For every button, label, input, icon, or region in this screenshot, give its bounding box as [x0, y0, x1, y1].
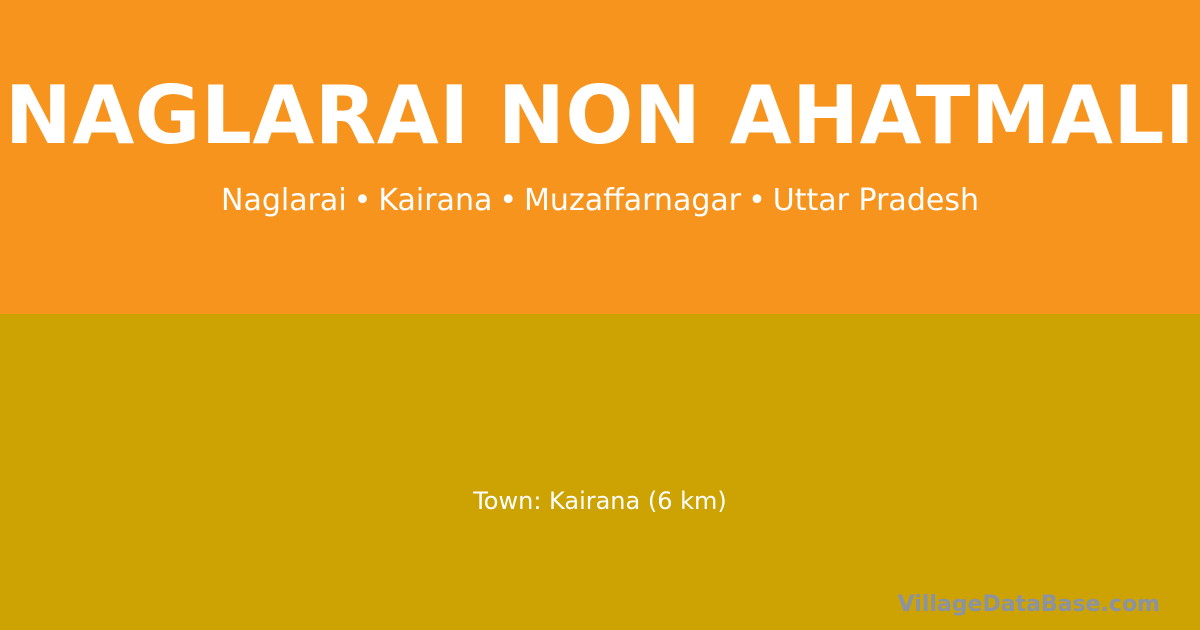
breadcrumb-separator-1: • [347, 186, 379, 216]
breadcrumb-separator-2: • [492, 186, 524, 216]
breadcrumb: Naglarai•Kairana•Muzaffarnagar•Uttar Pra… [0, 186, 1200, 216]
body-band: Town: Kairana (6 km) [0, 314, 1200, 630]
breadcrumb-state: Uttar Pradesh [773, 183, 979, 218]
village-info-card: NAGLARAI NON AHATMALI Naglarai•Kairana•M… [0, 0, 1200, 630]
breadcrumb-district: Muzaffarnagar [524, 183, 741, 218]
header-band: NAGLARAI NON AHATMALI Naglarai•Kairana•M… [0, 0, 1200, 314]
site-watermark: VillageDataBase.com [898, 594, 1160, 616]
nearest-town-label: Town: Kairana (6 km) [0, 489, 1200, 513]
breadcrumb-village: Naglarai [221, 183, 347, 218]
breadcrumb-block: Kairana [378, 183, 492, 218]
breadcrumb-separator-3: • [741, 186, 773, 216]
page-title: NAGLARAI NON AHATMALI [0, 76, 1200, 156]
